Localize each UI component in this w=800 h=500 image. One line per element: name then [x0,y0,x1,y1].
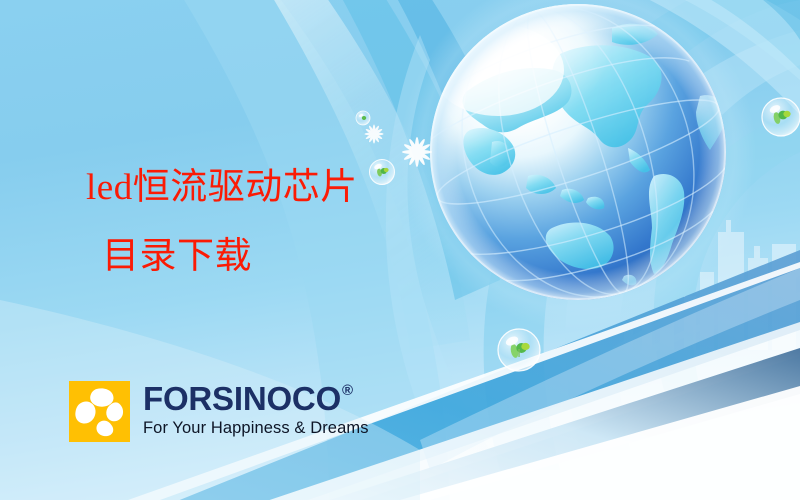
promo-banner: led恒流驱动芯片 目录下载 FORSINOCO ® [0,0,800,500]
logo-name-row: FORSINOCO ® [143,382,369,415]
brand-logo-lockup: FORSINOCO ® For Your Happiness & Dreams [69,381,369,442]
registered-trademark-symbol: ® [342,383,353,398]
bubble-with-leaves [762,98,800,136]
logo-wordmark: FORSINOCO ® For Your Happiness & Dreams [143,381,369,437]
bubble-with-leaves [370,160,395,185]
pinwheel-petal-icon [69,381,130,442]
bubble-with-leaves [356,111,370,125]
bubble-with-leaves [498,329,540,371]
logo-company-name: FORSINOCO [143,382,341,415]
forsinoco-logo-mark [69,381,130,442]
logo-tagline: For Your Happiness & Dreams [143,419,369,437]
